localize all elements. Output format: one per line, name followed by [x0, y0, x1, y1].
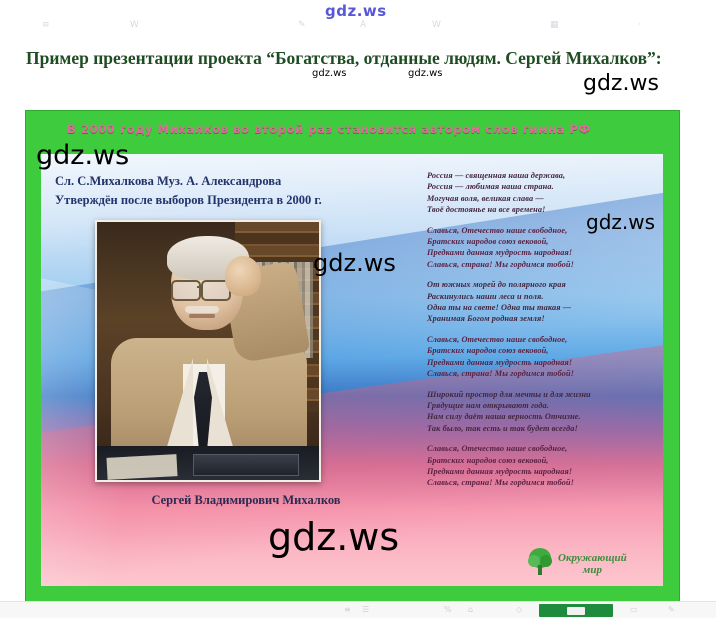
lyrics-line: Предками данная мудрость народная! — [427, 466, 655, 477]
faded-toolbar-glyph: ≡ — [42, 20, 50, 30]
presentation-slide: В 2000 году Михалков во второй раз стано… — [25, 110, 680, 602]
watermark-heading-small-2: gdz.ws — [408, 68, 443, 79]
mustache — [185, 306, 219, 313]
credits-line-2: Утверждён после выборов Президента в 200… — [55, 191, 405, 210]
faded-toolbar-glyph: ✎ — [298, 20, 306, 30]
publisher-logo: Окружающий мир — [527, 546, 649, 582]
faded-toolbar-glyph: W — [130, 20, 139, 30]
toolbar-glyph[interactable]: ▭ — [630, 605, 638, 614]
faded-toolbar-glyph: · — [638, 20, 641, 30]
eyeglass-bridge — [197, 286, 203, 288]
portrait-caption: Сергей Владимирович Михалков — [81, 493, 411, 508]
papers — [106, 454, 177, 480]
page-title: Пример презентации проекта “Богатства, о… — [26, 47, 666, 69]
toolbar-glyph[interactable]: % — [444, 605, 452, 614]
lyrics-line: Предками данная мудрость народная! — [427, 247, 655, 258]
hand — [225, 256, 261, 296]
lyrics-chorus: Славься, Отечество наше свободное,Братск… — [427, 334, 655, 380]
lyrics-line: Славься, страна! Мы гордимся тобой! — [427, 477, 655, 488]
logo-text: Окружающий мир — [558, 552, 627, 576]
bottom-toolbar[interactable]: ≡ ☰ % ⌂ ◇ ▭ ✎ — [0, 601, 716, 618]
lyrics-line: Россия — любимая наша страна. — [427, 181, 655, 192]
toolbar-glyph[interactable]: ◇ — [516, 605, 522, 614]
anthem-lyrics: Россия — священная наша держава,Россия —… — [427, 170, 655, 498]
logo-line-2: мир — [558, 564, 627, 576]
lyrics-line: Твоё достоянье на все времена! — [427, 204, 655, 215]
top-strip: gdz.ws ≡ W ✎ A W ▦ · — [0, 0, 716, 40]
mouth — [189, 314, 215, 318]
lyrics-line: От южных морей до полярного края — [427, 279, 655, 290]
lyrics-line: Раскинулись наши леса и поля. — [427, 291, 655, 302]
lyrics-verse: Россия — священная наша держава,Россия —… — [427, 170, 655, 216]
lyrics-line: Братских народов союз вековой, — [427, 345, 655, 356]
faded-toolbar-glyph: A — [360, 20, 366, 30]
lyrics-line: Славься, Отечество наше свободное, — [427, 443, 655, 454]
logo-line-1: Окружающий — [558, 552, 627, 564]
anthem-credits: Сл. С.Михалкова Муз. А. Александрова Утв… — [55, 172, 405, 210]
top-watermark: gdz.ws — [325, 2, 387, 20]
lyrics-line: Предками данная мудрость народная! — [427, 357, 655, 368]
slide-title: В 2000 году Михалков во второй раз стано… — [67, 122, 667, 136]
lyrics-line: Славься, страна! Мы гордимся тобой! — [427, 368, 655, 379]
lyrics-verse: Широкий простор для мечты и для жизниГря… — [427, 389, 655, 435]
lyrics-line: Братских народов союз вековой, — [427, 236, 655, 247]
toolbar-glyph[interactable]: ☰ — [362, 605, 369, 614]
tree-icon — [527, 547, 553, 582]
lyrics-line: Так было, так есть и так будет всегда! — [427, 423, 655, 434]
lyrics-line: Славься, Отечество наше свободное, — [427, 334, 655, 345]
watermark-heading-right: gdz.ws — [583, 71, 659, 96]
toolbar-green-button-inner — [567, 607, 585, 615]
lyrics-chorus: Славься, Отечество наше свободное,Братск… — [427, 443, 655, 489]
faded-toolbar-glyph: W — [432, 20, 441, 30]
lyrics-line: Славься, страна! Мы гордимся тобой! — [427, 259, 655, 270]
toolbar-glyph[interactable]: ✎ — [668, 605, 675, 614]
toolbar-glyph[interactable]: ≡ — [344, 605, 351, 614]
slide-title-band: В 2000 году Михалков во второй раз стано… — [25, 110, 680, 153]
lyrics-line: Хранимая Богом родная земля! — [427, 313, 655, 324]
lyrics-line: Славься, Отечество наше свободное, — [427, 225, 655, 236]
slide-body: Сл. С.Михалкова Муз. А. Александрова Утв… — [41, 154, 663, 586]
faded-toolbar-glyph: ▦ — [550, 20, 559, 30]
portrait-photo — [95, 220, 321, 482]
toolbar-green-button[interactable] — [539, 604, 613, 617]
lyrics-line: Грядущие нам открывают года. — [427, 400, 655, 411]
lyrics-verse: От южных морей до полярного краяРаскинул… — [427, 279, 655, 325]
keyboard — [193, 454, 299, 476]
lyrics-line: Нам силу даёт наша верность Отчизне. — [427, 411, 655, 422]
credits-line-1: Сл. С.Михалкова Муз. А. Александрова — [55, 172, 405, 191]
lyrics-line: Россия — священная наша держава, — [427, 170, 655, 181]
faded-toolbar-row: ≡ W ✎ A W ▦ · — [0, 20, 716, 34]
lyrics-line: Братских народов союз вековой, — [427, 455, 655, 466]
lyrics-chorus: Славься, Отечество наше свободное,Братск… — [427, 225, 655, 271]
watermark-heading-small-1: gdz.ws — [312, 68, 347, 79]
lyrics-line: Одна ты на свете! Одна ты такая — — [427, 302, 655, 313]
lyrics-line: Могучая воля, великая слава — — [427, 193, 655, 204]
toolbar-glyph[interactable]: ⌂ — [468, 605, 473, 614]
lyrics-line: Широкий простор для мечты и для жизни — [427, 389, 655, 400]
eyeglass-left — [171, 280, 201, 301]
